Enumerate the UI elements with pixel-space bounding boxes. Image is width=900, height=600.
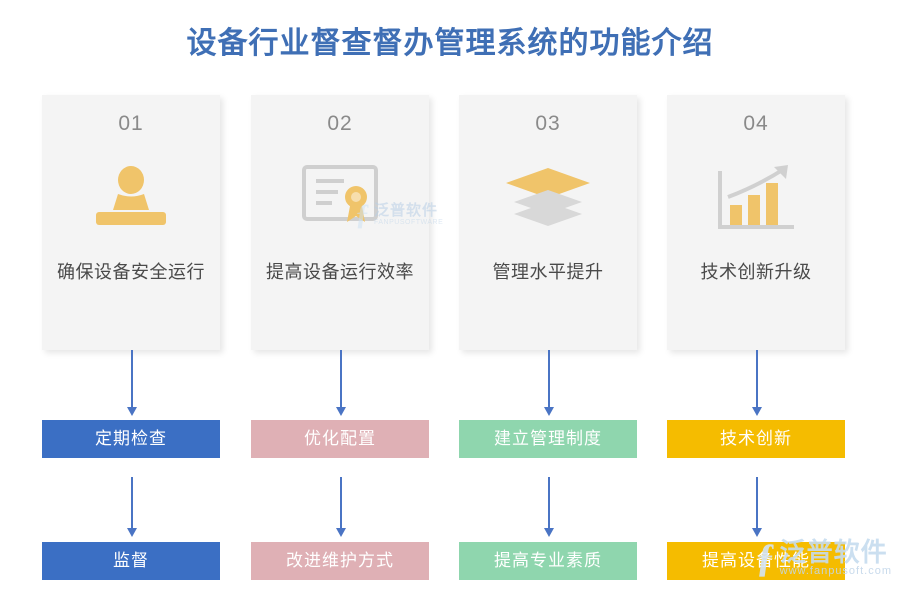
flow-column-3: 03 管理水平提升 建立管理制度 提高专业素质 [459, 95, 637, 350]
arrow-down [340, 350, 342, 408]
flow-column-4: 04 技术创新升级 技术创新 提高设备性能 [667, 95, 845, 350]
arrow-down [548, 350, 550, 408]
step-pill[interactable]: 定期检查 [42, 420, 220, 458]
arrow-down [340, 477, 342, 529]
feature-card[interactable]: 02 提高设备运行效率 [251, 95, 429, 350]
flow-column-1: 01 确保设备安全运行 定期检查 监督 [42, 95, 220, 350]
step-pill[interactable]: 监督 [42, 542, 220, 580]
arrow-down [131, 350, 133, 408]
feature-card[interactable]: 01 确保设备安全运行 [42, 95, 220, 350]
page-title: 设备行业督查督办管理系统的功能介绍 [0, 18, 900, 62]
card-number: 02 [251, 112, 429, 136]
step-pill[interactable]: 改进维护方式 [251, 542, 429, 580]
layers-icon [459, 157, 637, 237]
stamp-icon [42, 157, 220, 237]
arrow-down [756, 350, 758, 408]
flow-column-2: 02 提高设备运行效率 优化配置 改进维护方式 [251, 95, 429, 350]
arrow-down [756, 477, 758, 529]
certificate-icon [251, 157, 429, 237]
card-number: 03 [459, 112, 637, 136]
card-label: 确保设备安全运行 [42, 258, 220, 284]
arrow-down [131, 477, 133, 529]
step-pill[interactable]: 优化配置 [251, 420, 429, 458]
card-label: 管理水平提升 [459, 258, 637, 284]
card-label: 技术创新升级 [667, 258, 845, 284]
card-number: 01 [42, 112, 220, 136]
step-pill[interactable]: 提高设备性能 [667, 542, 845, 580]
feature-card[interactable]: 04 技术创新升级 [667, 95, 845, 350]
step-pill[interactable]: 提高专业素质 [459, 542, 637, 580]
card-label: 提高设备运行效率 [251, 258, 429, 284]
step-pill[interactable]: 建立管理制度 [459, 420, 637, 458]
card-number: 04 [667, 112, 845, 136]
step-pill[interactable]: 技术创新 [667, 420, 845, 458]
arrow-down [548, 477, 550, 529]
feature-card[interactable]: 03 管理水平提升 [459, 95, 637, 350]
bar-chart-growth-icon [667, 157, 845, 237]
